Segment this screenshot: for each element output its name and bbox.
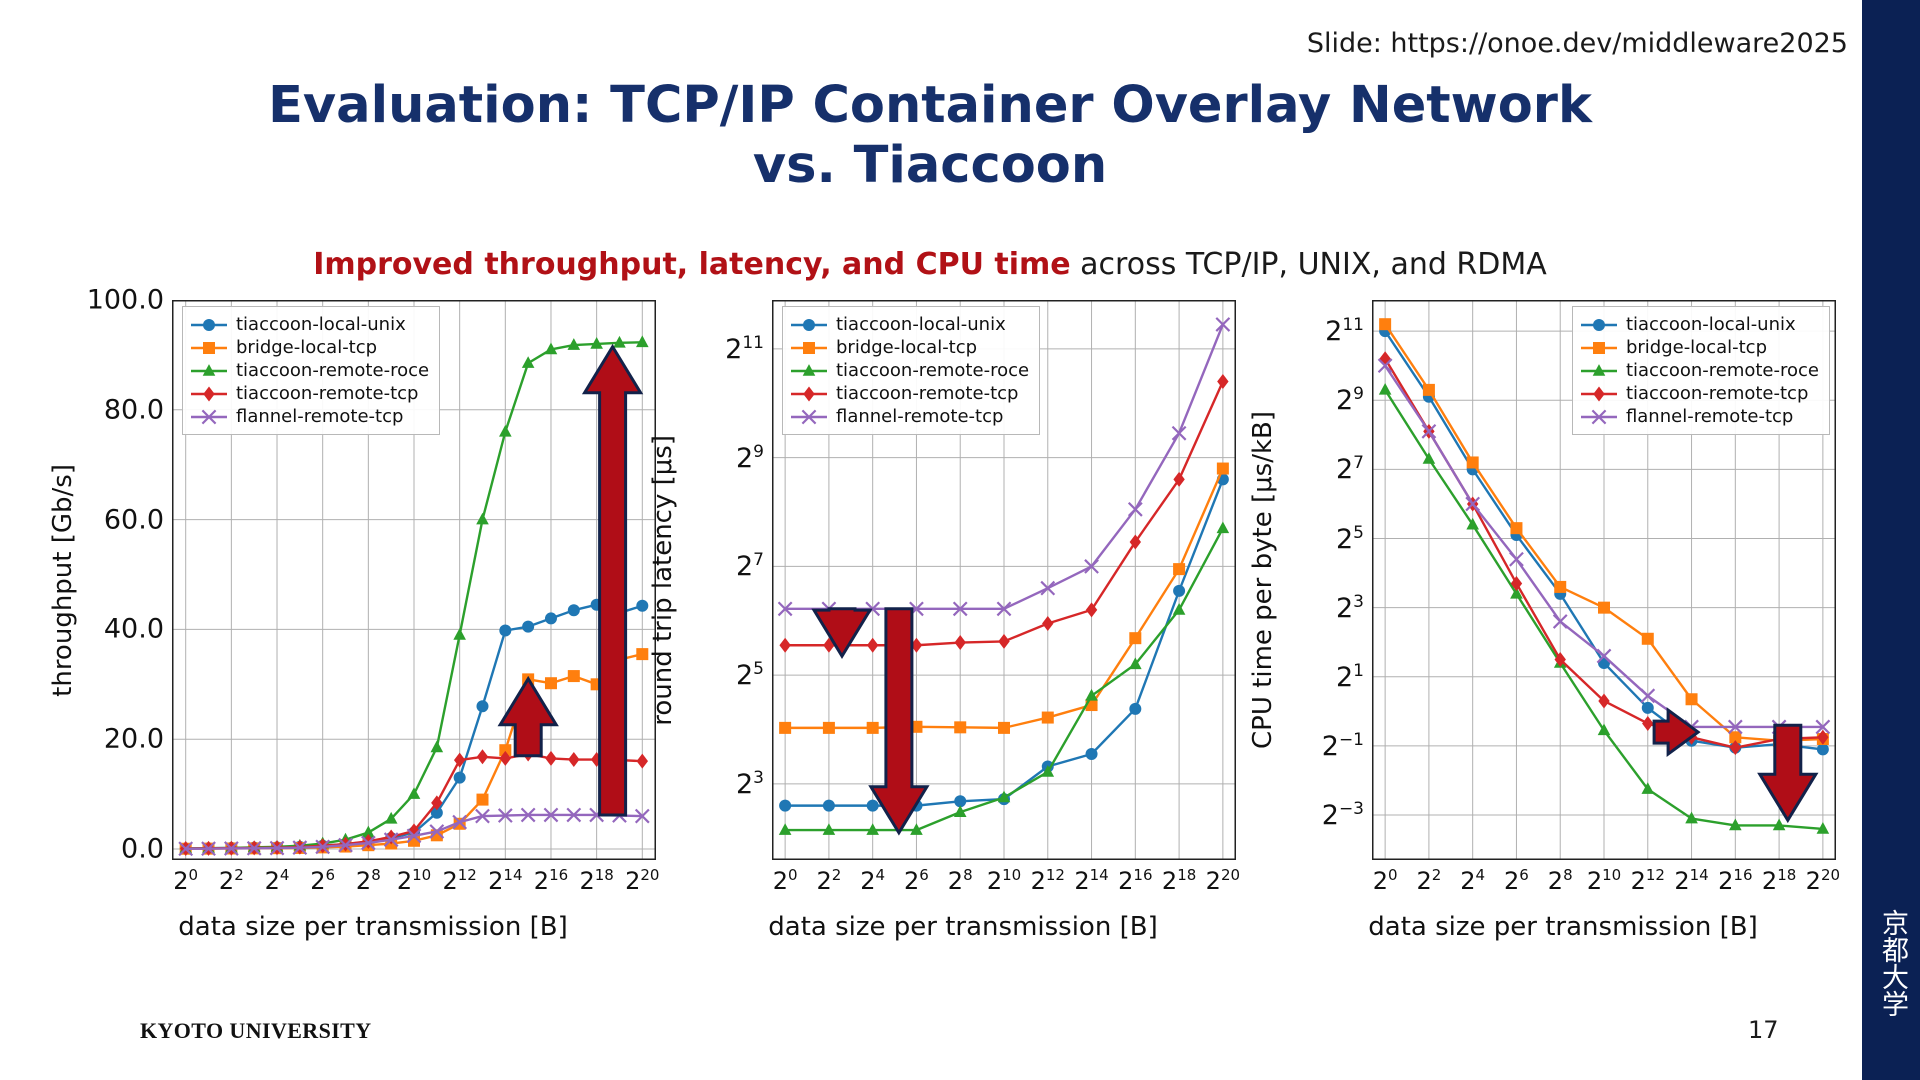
legend-marker-x-icon: [789, 407, 829, 427]
chart-latency: round trip latency [μs]23252729211tiacco…: [640, 300, 1240, 1000]
y-tick-label: 60.0: [104, 504, 164, 535]
legend-item: tiaccoon-remote-tcp: [1579, 382, 1819, 405]
legend-label: flannel-remote-tcp: [236, 406, 403, 427]
x-tick-label: 218: [579, 866, 613, 895]
page-title-line2: vs. Tiaccoon: [60, 136, 1800, 196]
legend-label: tiaccoon-local-unix: [236, 314, 406, 335]
legend-label: flannel-remote-tcp: [836, 406, 1003, 427]
y-tick-label: 23: [1336, 592, 1364, 624]
x-axis-ticks: 2022242628210212214216218220: [1372, 866, 1836, 906]
legend-marker-square-icon: [1579, 338, 1619, 358]
y-tick-label: 21: [1336, 661, 1364, 693]
legend-item: bridge-local-tcp: [189, 336, 429, 359]
legend-label: tiaccoon-remote-roce: [1626, 360, 1819, 381]
brand-sidebar: 京都大学: [1862, 0, 1920, 1080]
legend-item: bridge-local-tcp: [1579, 336, 1819, 359]
x-tick-label: 20: [1373, 866, 1398, 895]
x-tick-label: 28: [948, 866, 973, 895]
legend-marker-diamond-icon: [1579, 384, 1619, 404]
y-axis-ticks: 2−32−12123252729211: [1286, 300, 1372, 860]
x-tick-label: 214: [1674, 866, 1708, 895]
x-axis-label: data size per transmission [B]: [686, 912, 1240, 942]
y-tick-label: 80.0: [104, 394, 164, 425]
footer-university: KYOTO UNIVERSITY: [140, 1018, 372, 1044]
y-axis-ticks: 23252729211: [686, 300, 772, 860]
slide-url-note: Slide: https://onoe.dev/middleware2025: [1307, 28, 1848, 59]
x-tick-label: 212: [1031, 866, 1065, 895]
x-tick-label: 22: [1416, 866, 1441, 895]
legend-marker-diamond-icon: [189, 384, 229, 404]
chart-cputime: CPU time per byte [μs/kB]2−32−1212325272…: [1240, 300, 1840, 1000]
subtitle-rest: across TCP/IP, UNIX, and RDMA: [1071, 247, 1547, 282]
legend-marker-triangle-icon: [189, 361, 229, 381]
page-number: 17: [1748, 1016, 1779, 1044]
x-tick-label: 214: [488, 866, 522, 895]
y-tick-label: 0.0: [121, 834, 164, 865]
x-tick-label: 220: [1206, 866, 1240, 895]
slide-root: Slide: https://onoe.dev/middleware2025 E…: [0, 0, 1920, 1080]
y-tick-label: 25: [736, 659, 764, 691]
y-tick-label: 40.0: [104, 614, 164, 645]
y-tick-label: 100.0: [87, 285, 164, 316]
x-tick-label: 22: [219, 866, 244, 895]
x-axis-label: data size per transmission [B]: [86, 912, 660, 942]
x-tick-label: 210: [397, 866, 431, 895]
legend-label: tiaccoon-remote-tcp: [236, 383, 418, 404]
legend-item: tiaccoon-remote-tcp: [789, 382, 1029, 405]
x-tick-label: 214: [1074, 866, 1108, 895]
x-axis-ticks: 2022242628210212214216218220: [772, 866, 1236, 906]
y-tick-label: 211: [1325, 315, 1364, 347]
x-tick-label: 218: [1162, 866, 1196, 895]
x-tick-label: 24: [860, 866, 885, 895]
legend-marker-circle-icon: [789, 315, 829, 335]
subtitle: Improved throughput, latency, and CPU ti…: [60, 247, 1800, 282]
y-axis-label: round trip latency [μs]: [640, 300, 686, 860]
x-tick-label: 216: [1118, 866, 1152, 895]
legend-marker-square-icon: [189, 338, 229, 358]
legend-label: bridge-local-tcp: [1626, 337, 1767, 358]
legend-item: tiaccoon-remote-roce: [1579, 359, 1819, 382]
page-title: Evaluation: TCP/IP Container Overlay Net…: [60, 76, 1800, 195]
x-tick-label: 28: [356, 866, 381, 895]
legend-marker-circle-icon: [189, 315, 229, 335]
legend-item: tiaccoon-remote-tcp: [189, 382, 429, 405]
legend-item: flannel-remote-tcp: [789, 405, 1029, 428]
legend-item: tiaccoon-local-unix: [1579, 313, 1819, 336]
chart-legend: tiaccoon-local-unixbridge-local-tcptiacc…: [1572, 306, 1830, 435]
x-tick-label: 216: [1718, 866, 1752, 895]
legend-marker-square-icon: [789, 338, 829, 358]
legend-label: tiaccoon-remote-tcp: [836, 383, 1018, 404]
y-tick-label: 20.0: [104, 724, 164, 755]
legend-marker-triangle-icon: [789, 361, 829, 381]
plot-area: 2−32−12123252729211tiaccoon-local-unixbr…: [1286, 300, 1840, 900]
x-tick-label: 24: [1460, 866, 1485, 895]
x-tick-label: 218: [1762, 866, 1796, 895]
x-tick-label: 210: [1587, 866, 1621, 895]
y-tick-label: 23: [736, 768, 764, 800]
x-tick-label: 220: [1806, 866, 1840, 895]
legend-marker-x-icon: [189, 407, 229, 427]
subtitle-highlight: Improved throughput, latency, and CPU ti…: [313, 247, 1070, 282]
legend-item: tiaccoon-remote-roce: [789, 359, 1029, 382]
legend-marker-triangle-icon: [1579, 361, 1619, 381]
y-axis-label: throughput [Gb/s]: [40, 300, 86, 860]
sidebar-kanji-label: 京都大学: [1876, 888, 1906, 1038]
y-tick-label: 27: [1336, 453, 1364, 485]
x-tick-label: 28: [1548, 866, 1573, 895]
legend-item: flannel-remote-tcp: [1579, 405, 1819, 428]
x-tick-label: 20: [173, 866, 198, 895]
y-tick-label: 2−3: [1322, 799, 1364, 831]
x-tick-label: 26: [1504, 866, 1529, 895]
y-tick-label: 29: [736, 442, 764, 474]
x-tick-label: 212: [442, 866, 476, 895]
chart-legend: tiaccoon-local-unixbridge-local-tcptiacc…: [782, 306, 1040, 435]
plot-area: 23252729211tiaccoon-local-unixbridge-loc…: [686, 300, 1240, 900]
legend-label: tiaccoon-local-unix: [1626, 314, 1796, 335]
legend-marker-x-icon: [1579, 407, 1619, 427]
x-tick-label: 20: [773, 866, 798, 895]
x-tick-label: 212: [1631, 866, 1665, 895]
legend-item: tiaccoon-local-unix: [189, 313, 429, 336]
y-tick-label: 2−1: [1322, 730, 1364, 762]
y-tick-label: 27: [736, 550, 764, 582]
legend-label: bridge-local-tcp: [236, 337, 377, 358]
x-tick-label: 26: [904, 866, 929, 895]
x-tick-label: 216: [534, 866, 568, 895]
legend-item: bridge-local-tcp: [789, 336, 1029, 359]
legend-label: tiaccoon-remote-tcp: [1626, 383, 1808, 404]
y-tick-label: 29: [1336, 384, 1364, 416]
legend-label: tiaccoon-remote-roce: [236, 360, 429, 381]
chart-legend: tiaccoon-local-unixbridge-local-tcptiacc…: [182, 306, 440, 435]
legend-label: tiaccoon-remote-roce: [836, 360, 1029, 381]
x-tick-label: 26: [310, 866, 335, 895]
legend-label: bridge-local-tcp: [836, 337, 977, 358]
legend-label: flannel-remote-tcp: [1626, 406, 1793, 427]
x-tick-label: 210: [987, 866, 1021, 895]
legend-label: tiaccoon-local-unix: [836, 314, 1006, 335]
charts-row: throughput [Gb/s]0.020.040.060.080.0100.…: [0, 300, 1862, 1000]
y-axis-label: CPU time per byte [μs/kB]: [1240, 300, 1286, 860]
y-axis-ticks: 0.020.040.060.080.0100.0: [86, 300, 172, 860]
legend-item: flannel-remote-tcp: [189, 405, 429, 428]
legend-marker-circle-icon: [1579, 315, 1619, 335]
plot-area: 0.020.040.060.080.0100.0tiaccoon-local-u…: [86, 300, 660, 900]
x-tick-label: 24: [265, 866, 290, 895]
chart-throughput: throughput [Gb/s]0.020.040.060.080.0100.…: [40, 300, 660, 1000]
x-axis-label: data size per transmission [B]: [1286, 912, 1840, 942]
page-title-line1: Evaluation: TCP/IP Container Overlay Net…: [60, 76, 1800, 136]
y-tick-label: 211: [725, 333, 764, 365]
x-tick-label: 22: [816, 866, 841, 895]
legend-item: tiaccoon-remote-roce: [189, 359, 429, 382]
y-tick-label: 25: [1336, 523, 1364, 555]
x-axis-ticks: 2022242628210212214216218220: [172, 866, 656, 906]
legend-item: tiaccoon-local-unix: [789, 313, 1029, 336]
legend-marker-diamond-icon: [789, 384, 829, 404]
